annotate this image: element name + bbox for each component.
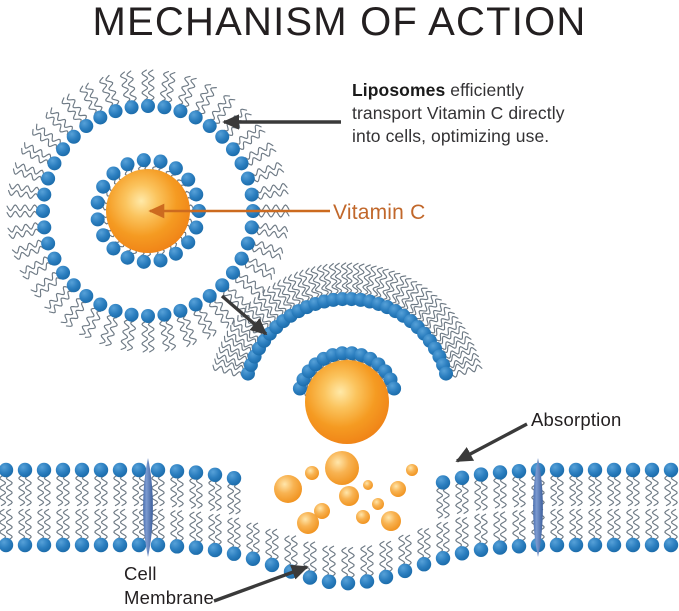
liposome-caption: Liposomes efficiently transport Vitamin …	[352, 79, 565, 148]
vitamin-c-particle	[372, 498, 384, 510]
vitamin-c-particle	[381, 511, 401, 531]
liposome-caption-line2: transport Vitamin C directly	[352, 103, 565, 123]
vitamin-c-particle	[356, 510, 370, 524]
vitamin-c-particle	[406, 464, 418, 476]
liposome-caption-bold: Liposomes	[352, 80, 445, 100]
vitamin-c-label: Vitamin C	[333, 199, 425, 227]
vitamin-c-particle	[297, 512, 319, 534]
vitamin-c-particle	[363, 480, 373, 490]
vitamin-c-particle	[339, 486, 359, 506]
released-vitamin-c-particles	[274, 451, 418, 534]
liposome-caption-line3: into cells, optimizing use.	[352, 126, 549, 146]
cell-membrane-arrow	[214, 567, 307, 601]
liposome-caption-rest: efficiently	[445, 80, 524, 100]
liposome-fusing	[213, 263, 482, 444]
cell-membrane-line1: Cell	[124, 563, 157, 584]
vitamin-c-particle	[305, 466, 319, 480]
absorption-arrow	[457, 424, 527, 461]
absorption-label: Absorption	[531, 408, 621, 432]
vitamin-c-particle	[325, 451, 359, 485]
vitamin-c-particle	[390, 481, 406, 497]
cell-membrane-line2: Membrane	[124, 587, 214, 608]
vitamin-c-particle	[274, 475, 302, 503]
mechanism-of-action-illustration	[0, 0, 679, 604]
cell-membrane-label: Cell Membrane	[124, 562, 214, 611]
diagram-canvas: MECHANISM OF ACTION Liposomes efficientl…	[0, 0, 679, 604]
page-title: MECHANISM OF ACTION	[0, 0, 679, 49]
